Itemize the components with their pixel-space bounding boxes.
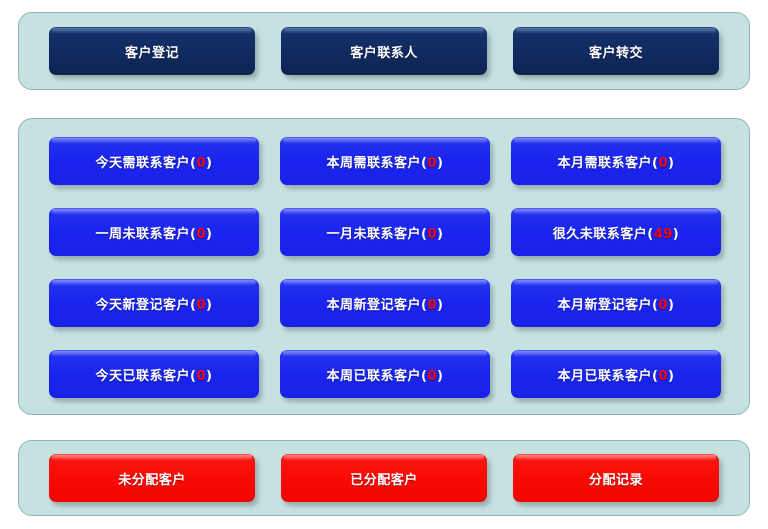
stat-row-new-registered: 今天新登记客户(0) 本周新登记客户(0) 本月新登记客户(0) [49,279,721,327]
count-value: 0 [427,298,437,313]
button-label: 本周已联系客户(0) [327,365,444,384]
count-value: 0 [196,227,206,242]
button-week-not-contacted[interactable]: 一周未联系客户(0) [49,208,259,256]
stat-row-need-contact: 今天需联系客户(0) 本周需联系客户(0) 本月需联系客户(0) [49,137,721,185]
button-month-already-contacted[interactable]: 本月已联系客户(0) [511,350,721,398]
button-label: 很久未联系客户(49) [553,223,680,242]
button-label: 今天需联系客户(0) [96,152,213,171]
button-label: 本月新登记客户(0) [558,294,675,313]
button-today-already-contacted[interactable]: 今天已联系客户(0) [49,350,259,398]
count-value: 49 [654,227,673,242]
button-long-not-contacted[interactable]: 很久未联系客户(49) [511,208,721,256]
button-unallocated-customers[interactable]: 未分配客户 [49,454,255,502]
button-label: 客户登记 [125,42,179,61]
button-week-need-contact[interactable]: 本周需联系客户(0) [280,137,490,185]
button-label: 未分配客户 [118,469,186,488]
button-label: 本月需联系客户(0) [558,152,675,171]
count-value: 0 [196,156,206,171]
button-customer-transfer[interactable]: 客户转交 [513,27,719,75]
stat-row-not-contacted: 一周未联系客户(0) 一月未联系客户(0) 很久未联系客户(49) [49,208,721,256]
button-label: 今天新登记客户(0) [96,294,213,313]
button-label: 本月已联系客户(0) [558,365,675,384]
customer-management-dashboard: 客户登记 客户联系人 客户转交 今天需联系客户(0) 本周需联系客户(0) 本月… [0,0,768,529]
count-value: 0 [658,369,668,384]
button-allocated-customers[interactable]: 已分配客户 [281,454,487,502]
button-week-already-contacted[interactable]: 本周已联系客户(0) [280,350,490,398]
count-value: 0 [196,298,206,313]
count-value: 0 [658,298,668,313]
button-month-not-contacted[interactable]: 一月未联系客户(0) [280,208,490,256]
button-label: 已分配客户 [350,469,418,488]
primary-actions-panel: 客户登记 客户联系人 客户转交 [18,12,750,90]
button-label: 今天已联系客户(0) [96,365,213,384]
count-value: 0 [658,156,668,171]
button-label: 一周未联系客户(0) [96,223,213,242]
count-value: 0 [427,369,437,384]
customer-statistics-panel: 今天需联系客户(0) 本周需联系客户(0) 本月需联系客户(0) 一周未联系客户… [18,118,750,415]
button-month-need-contact[interactable]: 本月需联系客户(0) [511,137,721,185]
count-value: 0 [427,156,437,171]
button-label: 客户联系人 [350,42,418,61]
button-label: 本周需联系客户(0) [327,152,444,171]
count-value: 0 [427,227,437,242]
button-week-new-registered[interactable]: 本周新登记客户(0) [280,279,490,327]
button-label: 客户转交 [589,42,643,61]
count-value: 0 [196,369,206,384]
button-today-new-registered[interactable]: 今天新登记客户(0) [49,279,259,327]
button-allocation-records[interactable]: 分配记录 [513,454,719,502]
button-label: 一月未联系客户(0) [327,223,444,242]
button-today-need-contact[interactable]: 今天需联系客户(0) [49,137,259,185]
stat-row-already-contacted: 今天已联系客户(0) 本周已联系客户(0) 本月已联系客户(0) [49,350,721,398]
button-label: 本周新登记客户(0) [327,294,444,313]
button-month-new-registered[interactable]: 本月新登记客户(0) [511,279,721,327]
button-label: 分配记录 [589,469,643,488]
allocation-actions-panel: 未分配客户 已分配客户 分配记录 [18,440,750,516]
button-customer-contact[interactable]: 客户联系人 [281,27,487,75]
button-customer-registration[interactable]: 客户登记 [49,27,255,75]
